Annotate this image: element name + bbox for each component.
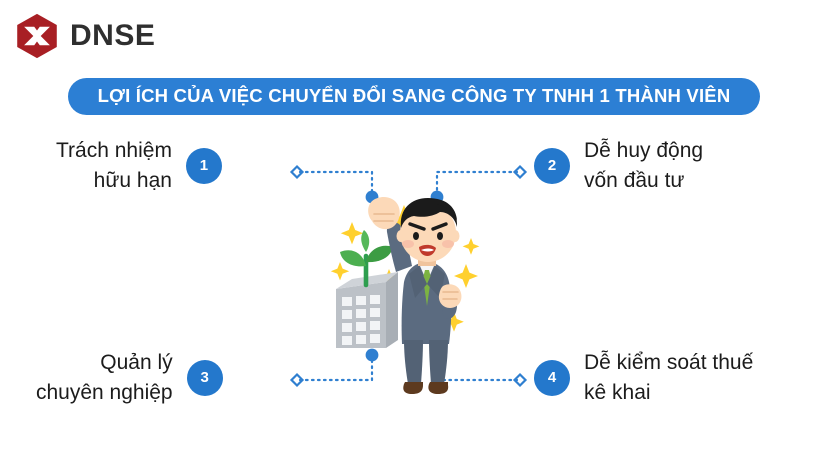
connector-4 [437,360,517,380]
benefit-badge-4: 4 [534,360,570,396]
dot-node-3 [366,349,379,362]
sparkle-mid-left [331,262,349,280]
sparkle-right [454,264,478,288]
infographic-canvas: DNSE LỢI ÍCH CỦA VIỆC CHUYỂN ĐỔI SANG CÔ… [0,0,825,450]
connector-1 [300,172,372,192]
connector-2 [437,172,517,192]
benefit-label-1: Trách nhiệm hữu hạn [56,136,172,196]
benefit-badge-1: 1 [186,148,222,184]
benefit-label-2: Dễ huy động vốn đầu tư [584,136,703,196]
benefit-item-2[interactable]: 2 Dễ huy động vốn đầu tư [534,136,703,196]
benefit-item-3[interactable]: Quản lý chuyên nghiệp 3 [36,348,223,408]
benefit-item-4[interactable]: 4 Dễ kiểm soát thuế kê khai [534,348,753,408]
benefit-item-1[interactable]: Trách nhiệm hữu hạn 1 [56,136,222,196]
sparkle-upper-left [341,222,363,244]
illustration-businessman-and-building [331,197,480,394]
benefit-label-4: Dễ kiểm soát thuế kê khai [584,348,753,408]
bent-fist [439,284,462,308]
benefit-badge-2: 2 [534,148,570,184]
benefit-badge-3: 3 [187,360,223,396]
raised-fist [368,197,400,229]
benefit-label-3: Quản lý chuyên nghiệp [36,348,173,408]
connector-3 [300,360,372,380]
sparkle-upper-right [463,238,480,255]
